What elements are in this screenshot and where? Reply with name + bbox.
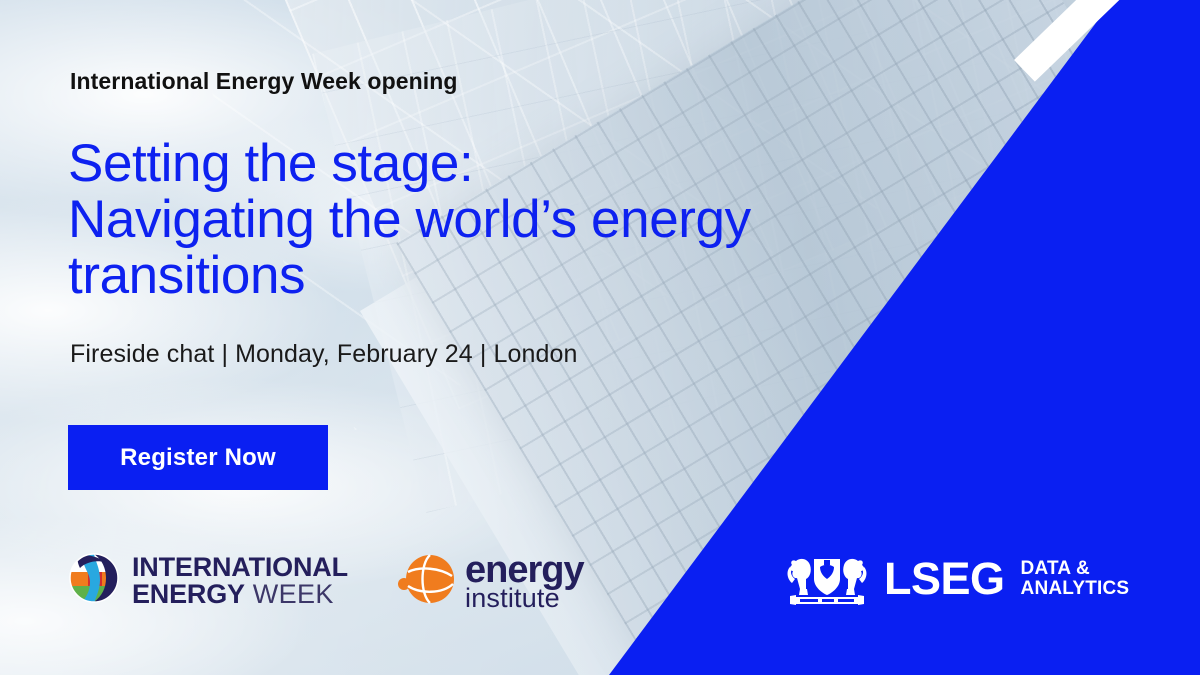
energy-institute-wordmark: energy institute: [465, 553, 584, 611]
headline-line-2: Navigating the world’s energy: [68, 190, 751, 249]
register-now-button[interactable]: Register Now: [68, 425, 328, 490]
promo-banner: International Energy Week opening Settin…: [0, 0, 1200, 675]
iew-word-energy: ENERGY: [132, 579, 245, 609]
lseg-descriptor-line-2: ANALYTICS: [1021, 579, 1130, 599]
eyebrow-text: International Energy Week opening: [70, 68, 458, 95]
lseg-descriptor: DATA & ANALYTICS: [1021, 559, 1130, 599]
headline-line-1: Setting the stage:: [68, 134, 473, 193]
logo-international-energy-week: INTERNATIONAL ENERGY WEEK: [68, 552, 348, 609]
headline-line-3: transitions: [68, 246, 305, 305]
page-title: Setting the stage: Navigating the world’…: [68, 136, 751, 305]
logo-lseg: LSEG DATA & ANALYTICS: [786, 545, 1129, 612]
event-details-text: Fireside chat | Monday, February 24 | Lo…: [70, 340, 577, 369]
iew-globe-icon: [68, 552, 120, 609]
lseg-crest-icon: [786, 545, 868, 612]
iew-line-energy-week: ENERGY WEEK: [132, 581, 348, 608]
lseg-wordmark: LSEG: [884, 556, 1005, 601]
logo-energy-institute: energy institute: [396, 550, 584, 613]
iew-line-international: INTERNATIONAL: [132, 554, 348, 581]
energy-institute-sphere-icon: [396, 550, 458, 613]
lseg-descriptor-line-1: DATA &: [1021, 559, 1130, 579]
iew-wordmark: INTERNATIONAL ENERGY WEEK: [132, 554, 348, 608]
iew-word-week: WEEK: [245, 579, 334, 609]
